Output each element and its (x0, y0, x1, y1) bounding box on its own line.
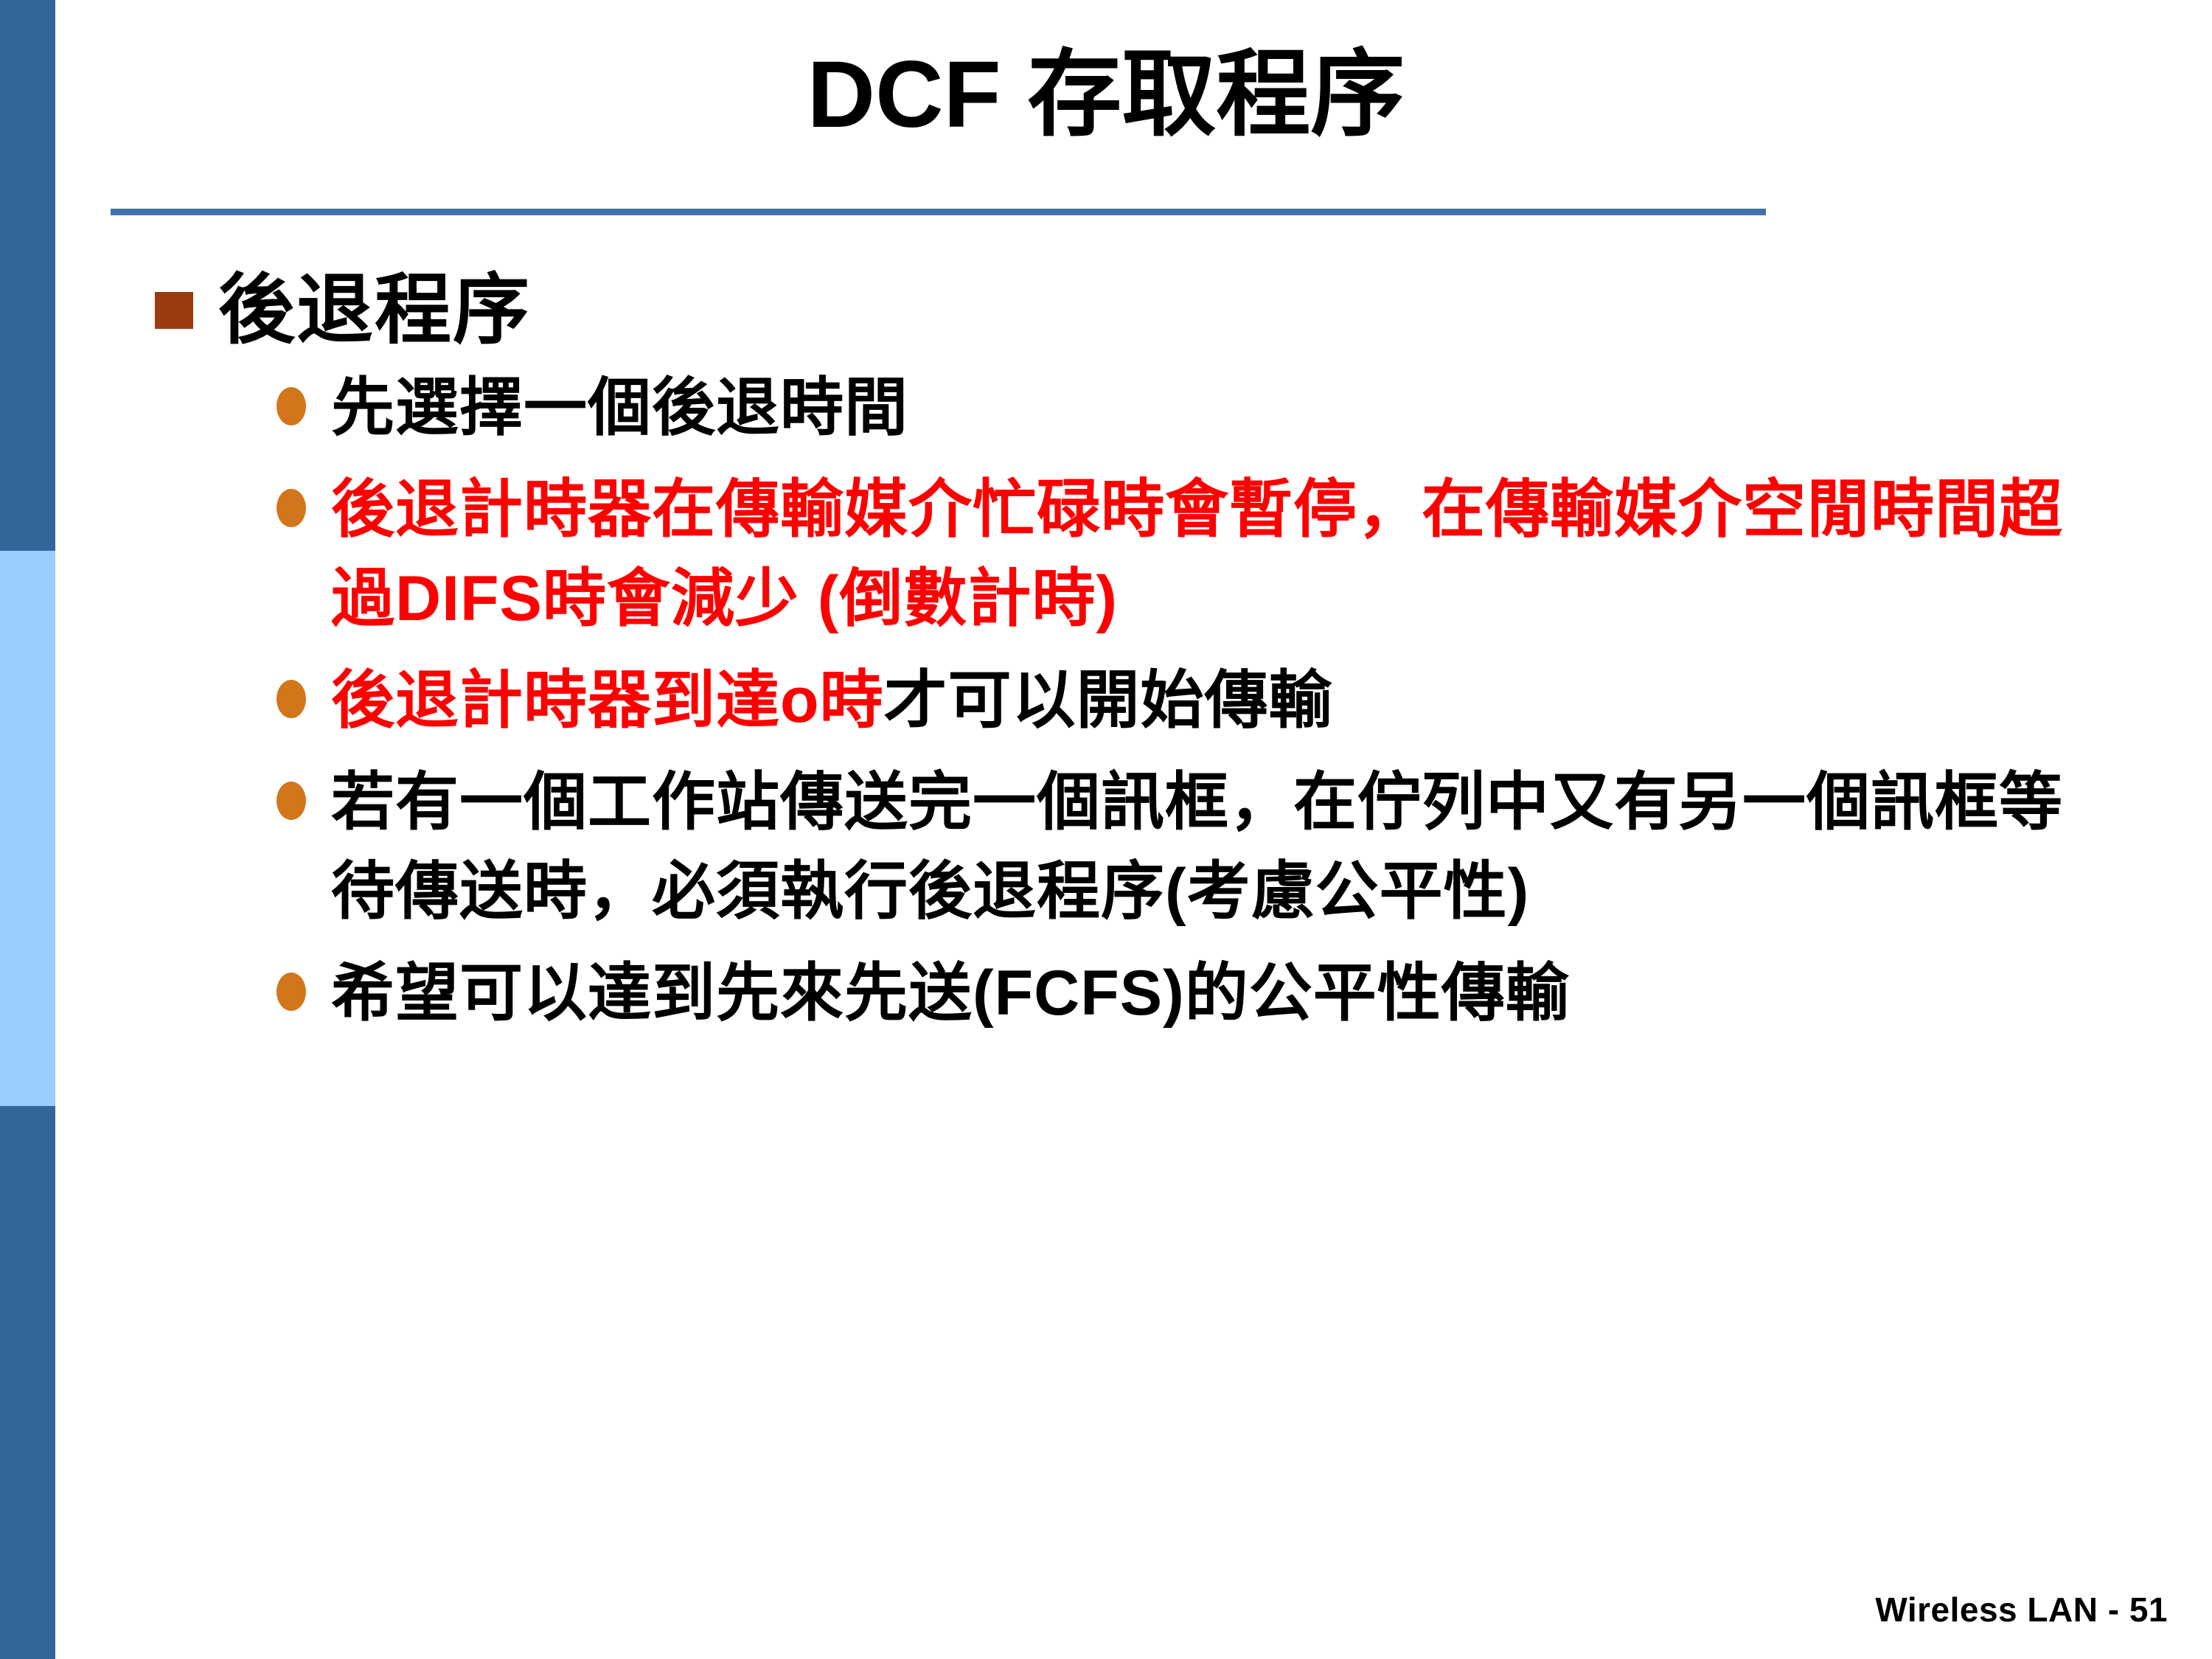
level2-bullet-item-5: 希望可以達到先來先送(FCFS)的公平性傳輸 (0, 949, 2212, 1037)
circle-bullet-icon (276, 387, 306, 425)
level2-bullet-item-2: 後退計時器在傳輸媒介忙碌時會暫停，在傳輸媒介空閒時間超過DIFS時會減少 (倒數… (0, 465, 2212, 643)
level2-bullet-item-3: 後退計時器到達o時才可以開始傳輸 (0, 656, 2212, 745)
level1-bullet-item: 後退程序 (0, 265, 2212, 356)
level2-bullet-item-1: 先選擇一個後退時間 (0, 364, 2212, 452)
circle-bullet-icon (276, 782, 306, 820)
level2-bullet-label-4: 若有一個工作站傳送完一個訊框，在佇列中又有另一個訊框等待傳送時，必須執行後退程序… (331, 758, 2101, 936)
title-underline-rule (111, 209, 1766, 215)
level2-bullet-label-1: 先選擇一個後退時間 (331, 364, 908, 452)
circle-bullet-icon (276, 680, 306, 718)
level2-bullet-label-3: 後退計時器到達o時才可以開始傳輸 (331, 656, 1333, 745)
level1-bullet-label: 後退程序 (218, 265, 531, 356)
slide-canvas: DCF 存取程序 後退程序 先選擇一個後退時間 後退計時器在傳輸媒介忙碌時會暫停… (0, 0, 2212, 1659)
slide-body: 後退程序 先選擇一個後退時間 後退計時器在傳輸媒介忙碌時會暫停，在傳輸媒介空閒時… (0, 265, 2212, 1482)
slide-footer: Wireless LAN - 51 (1875, 1590, 2168, 1630)
level2-bullet-item-4: 若有一個工作站傳送完一個訊框，在佇列中又有另一個訊框等待傳送時，必須執行後退程序… (0, 758, 2212, 936)
level2-bullet-label-5: 希望可以達到先來先送(FCFS)的公平性傳輸 (331, 949, 1570, 1037)
circle-bullet-icon (276, 489, 306, 527)
square-bullet-icon (155, 292, 193, 329)
circle-bullet-icon (276, 973, 306, 1011)
level2-bullet-label-2: 後退計時器在傳輸媒介忙碌時會暫停，在傳輸媒介空閒時間超過DIFS時會減少 (倒數… (331, 465, 2101, 643)
slide-title: DCF 存取程序 (111, 41, 2101, 149)
